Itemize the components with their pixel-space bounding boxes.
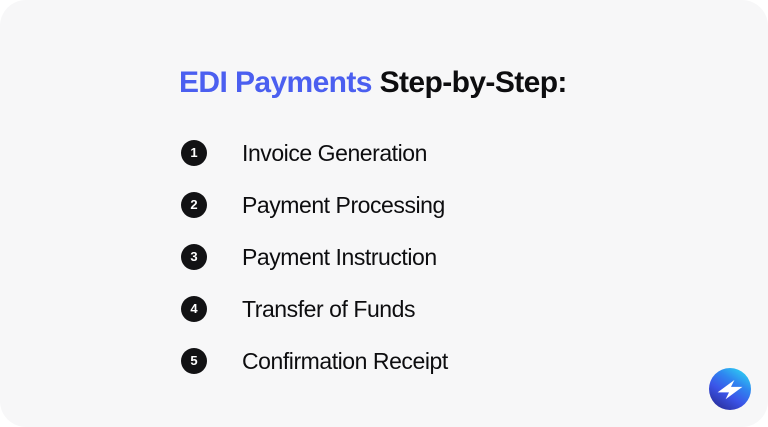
slide-card: EDI Payments Step-by-Step: 1 Invoice Gen…: [0, 0, 768, 427]
list-item: 4 Transfer of Funds: [181, 283, 601, 335]
step-number-badge: 5: [181, 348, 207, 374]
steps-list: 1 Invoice Generation 2 Payment Processin…: [181, 127, 601, 387]
list-item: 2 Payment Processing: [181, 179, 601, 231]
step-number-badge: 4: [181, 296, 207, 322]
step-label: Transfer of Funds: [242, 296, 415, 323]
step-label: Confirmation Receipt: [242, 348, 448, 375]
step-number-badge: 3: [181, 244, 207, 270]
title-plain-text: Step-by-Step:: [372, 66, 567, 99]
step-number-badge: 1: [181, 140, 207, 166]
step-label: Payment Processing: [242, 192, 445, 219]
list-item: 5 Confirmation Receipt: [181, 335, 601, 387]
list-item: 3 Payment Instruction: [181, 231, 601, 283]
brand-logo: [708, 367, 752, 411]
page-title: EDI Payments Step-by-Step:: [179, 64, 567, 102]
list-item: 1 Invoice Generation: [181, 127, 601, 179]
title-accent-text: EDI Payments: [179, 66, 372, 99]
step-label: Invoice Generation: [242, 140, 427, 167]
step-number-badge: 2: [181, 192, 207, 218]
step-label: Payment Instruction: [242, 244, 437, 271]
